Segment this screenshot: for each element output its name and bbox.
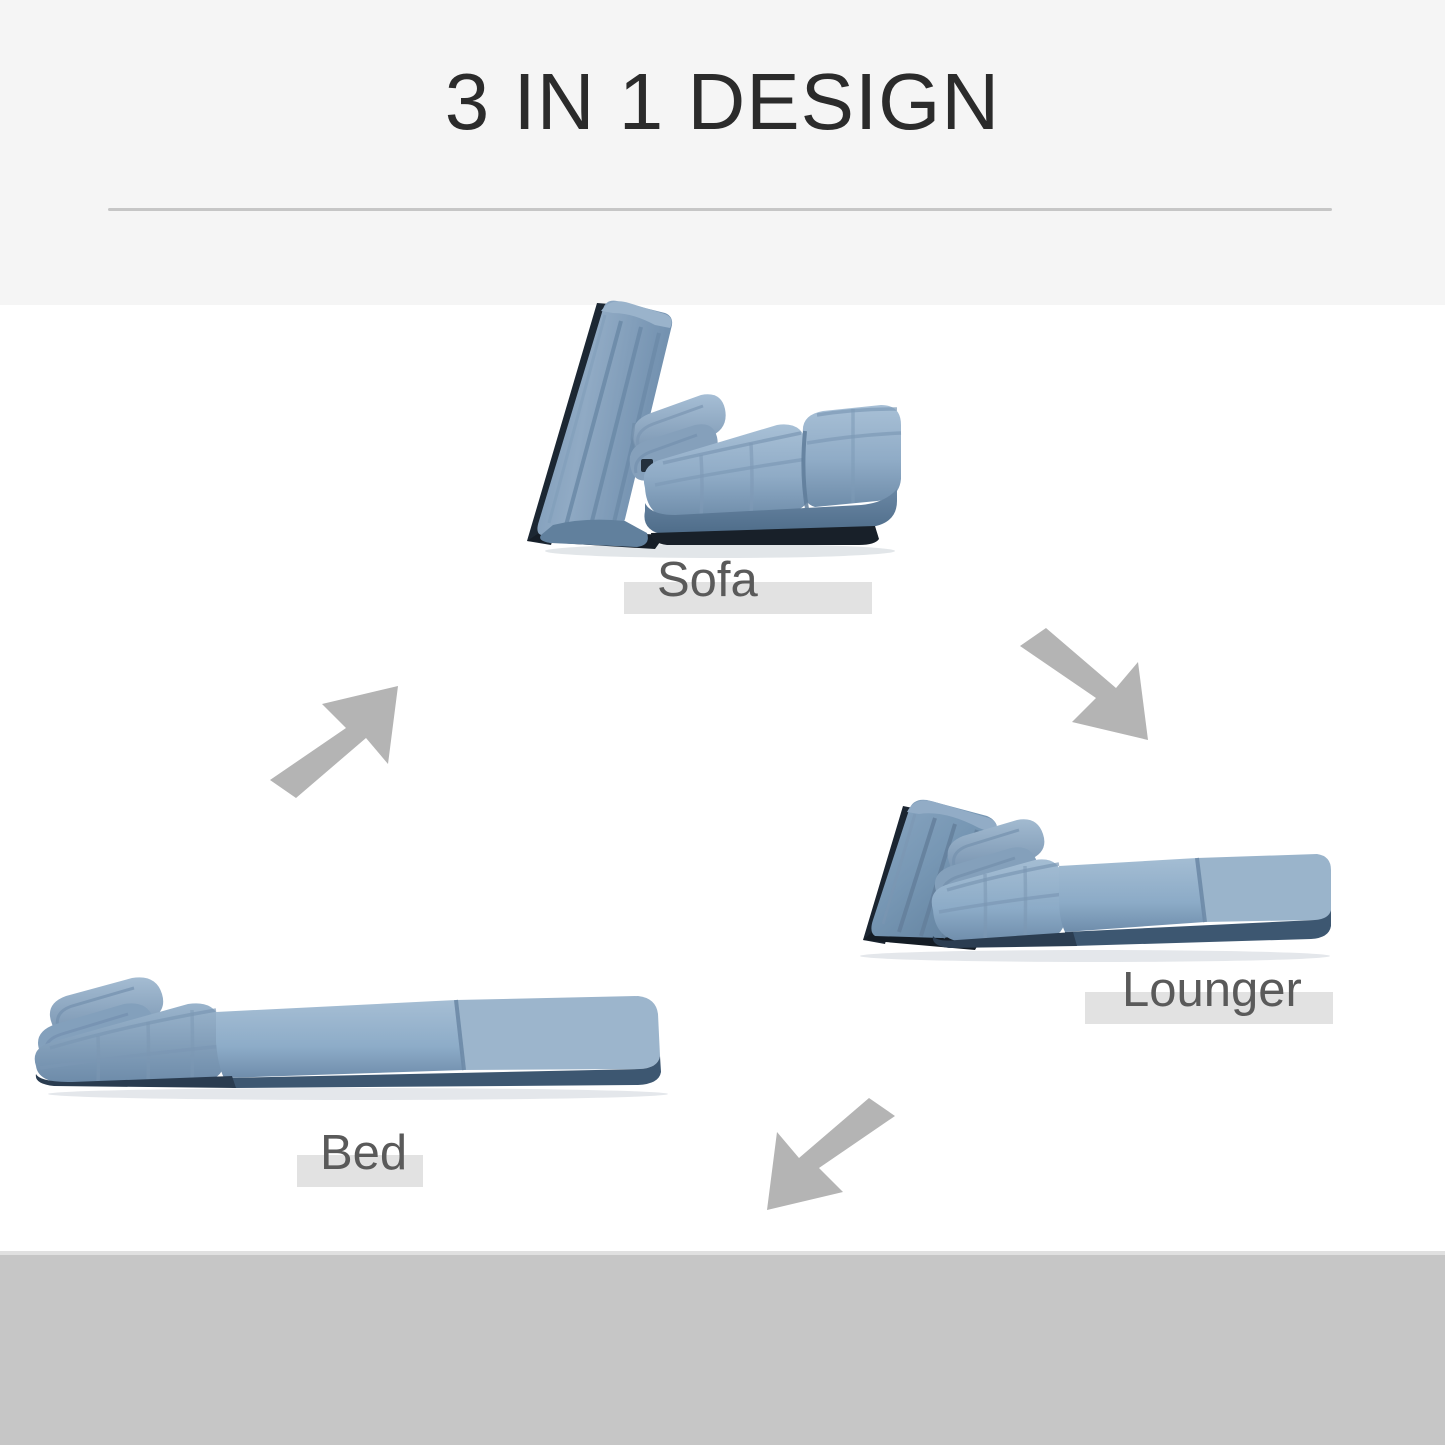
lounger-illustration (845, 770, 1345, 965)
arrow-up-right-icon (270, 668, 430, 798)
infographic-page: 3 IN 1 DESIGN (0, 0, 1445, 1445)
bed-label-text: Bed (320, 1129, 407, 1178)
header-band (0, 0, 1445, 305)
sofa-illustration (505, 283, 915, 568)
lounger-label-text: Lounger (1122, 966, 1302, 1015)
sofa-label-text: Sofa (657, 556, 758, 605)
page-title: 3 IN 1 DESIGN (0, 62, 1445, 142)
bottom-band (0, 1255, 1445, 1445)
arrow-down-right-icon (1020, 628, 1180, 758)
title-divider (108, 208, 1332, 211)
arrow-down-left-icon (735, 1098, 895, 1228)
bed-illustration (28, 968, 688, 1103)
